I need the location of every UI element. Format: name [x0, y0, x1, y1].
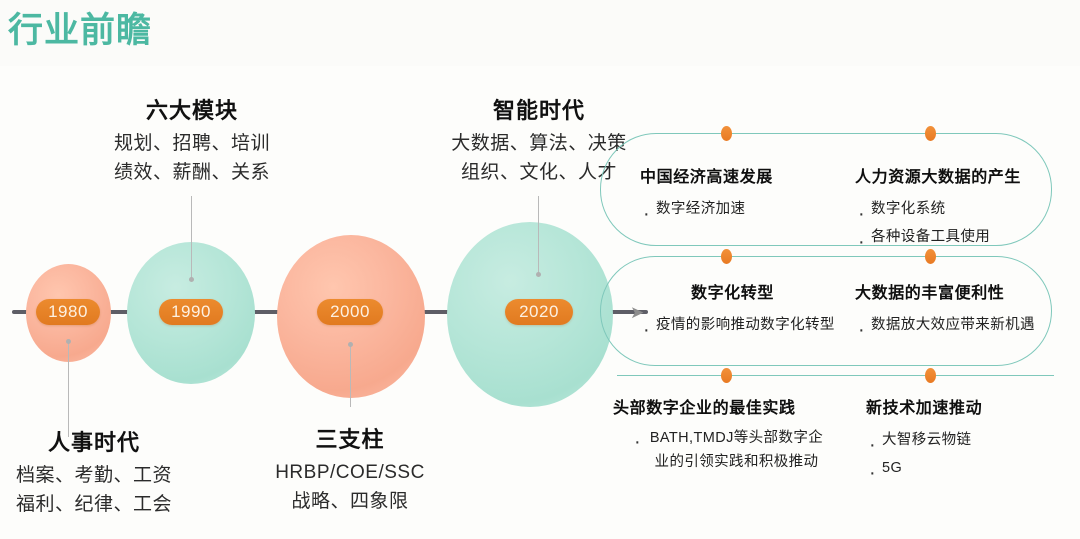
panel-card-r1-left: 中国经济高速发展 数字经济加速 [640, 163, 773, 224]
bullet-item: 大智移云物链 [866, 427, 982, 455]
leader-line-renshi [68, 341, 69, 437]
bullet-item: BATH,TMDJ等头部数字企业的引领实践和积极推动 [631, 427, 824, 475]
era-label-renshi: 人事时代 档案、考勤、工资 福利、纪律、工会 [0, 425, 206, 520]
era-line-renshi-2: 福利、纪律、工会 [0, 490, 206, 519]
era-title-liuda: 六大模块 [80, 93, 304, 125]
infographic-canvas: 行业前瞻 1980 1990 2000 2020 六大模块 规划、招聘、培训 绩… [0, 0, 1080, 539]
header-band [0, 0, 1080, 66]
bullet-item: 数据放大效应带来新机遇 [855, 312, 1035, 340]
era-line-renshi-1: 档案、考勤、工资 [0, 461, 206, 490]
era-label-liuda: 六大模块 规划、招聘、培训 绩效、薪酬、关系 [80, 93, 304, 188]
leader-line-liuda [191, 196, 192, 279]
bullet-item: 数字经济加速 [640, 196, 773, 224]
year-badge-2000[interactable]: 2000 [317, 299, 383, 325]
era-line-liuda-1: 规划、招聘、培训 [80, 129, 304, 158]
year-badge-1990[interactable]: 1990 [159, 299, 223, 325]
leader-dot-zhineng [536, 272, 541, 277]
card-bullets-r2-left: 疫情的影响推动数字化转型 [640, 312, 835, 340]
year-badge-2020[interactable]: 2020 [505, 299, 573, 325]
leader-dot-renshi [66, 339, 71, 344]
panel-card-r2-left: 数字化转型 疫情的影响推动数字化转型 [640, 279, 835, 340]
era-title-renshi: 人事时代 [0, 425, 206, 457]
era-title-sanzhizhu: 三支柱 [238, 422, 462, 454]
era-line-liuda-2: 绩效、薪酬、关系 [80, 158, 304, 187]
year-badge-1980[interactable]: 1980 [36, 299, 100, 325]
panel-card-r3-left: 头部数字企业的最佳实践 BATH,TMDJ等头部数字企业的引领实践和积极推动 [613, 394, 824, 475]
row-dot-r3-right [925, 368, 936, 383]
leader-dot-liuda [189, 277, 194, 282]
era-line-sanzhizhu-1: HRBP/COE/SSC [238, 458, 462, 487]
card-title-r3-right: 新技术加速推动 [866, 394, 982, 418]
panel-row-3-rule [617, 375, 1054, 376]
leader-dot-sanzhizhu [348, 342, 353, 347]
leader-line-sanzhizhu [350, 344, 351, 407]
bullet-item: 各种设备工具使用 [855, 224, 1021, 252]
card-bullets-r2-right: 数据放大效应带来新机遇 [855, 312, 1035, 340]
card-bullets-r1-left: 数字经济加速 [640, 196, 773, 224]
card-title-r3-left: 头部数字企业的最佳实践 [613, 394, 824, 418]
row-dot-r1-right [925, 126, 936, 141]
era-label-sanzhizhu: 三支柱 HRBP/COE/SSC 战略、四象限 [238, 422, 462, 517]
card-title-r1-left: 中国经济高速发展 [640, 163, 773, 187]
card-bullets-r3-left: BATH,TMDJ等头部数字企业的引领实践和积极推动 [631, 427, 824, 475]
card-title-r2-left: 数字化转型 [640, 279, 825, 303]
panel-card-r2-right: 大数据的丰富便利性 数据放大效应带来新机遇 [855, 279, 1035, 340]
row-dot-r2-right [925, 249, 936, 264]
leader-line-zhineng [538, 196, 539, 274]
card-title-r1-right: 人力资源大数据的产生 [855, 163, 1021, 187]
row-dot-r3-left [721, 368, 732, 383]
bullet-item: 5G [866, 455, 982, 483]
era-line-sanzhizhu-2: 战略、四象限 [238, 487, 462, 516]
card-bullets-r1-right: 数字化系统 各种设备工具使用 [855, 196, 1021, 251]
era-title-zhineng: 智能时代 [428, 93, 650, 125]
panel-card-r3-right: 新技术加速推动 大智移云物链 5G [866, 394, 982, 482]
card-bullets-r3-right: 大智移云物链 5G [866, 427, 982, 482]
bullet-item: 疫情的影响推动数字化转型 [640, 312, 835, 340]
panel-card-r1-right: 人力资源大数据的产生 数字化系统 各种设备工具使用 [855, 163, 1021, 251]
bullet-item: 数字化系统 [855, 196, 1021, 224]
row-dot-r2-left [721, 249, 732, 264]
card-title-r2-right: 大数据的丰富便利性 [855, 279, 1035, 303]
row-dot-r1-left [721, 126, 732, 141]
page-title: 行业前瞻 [8, 2, 152, 53]
